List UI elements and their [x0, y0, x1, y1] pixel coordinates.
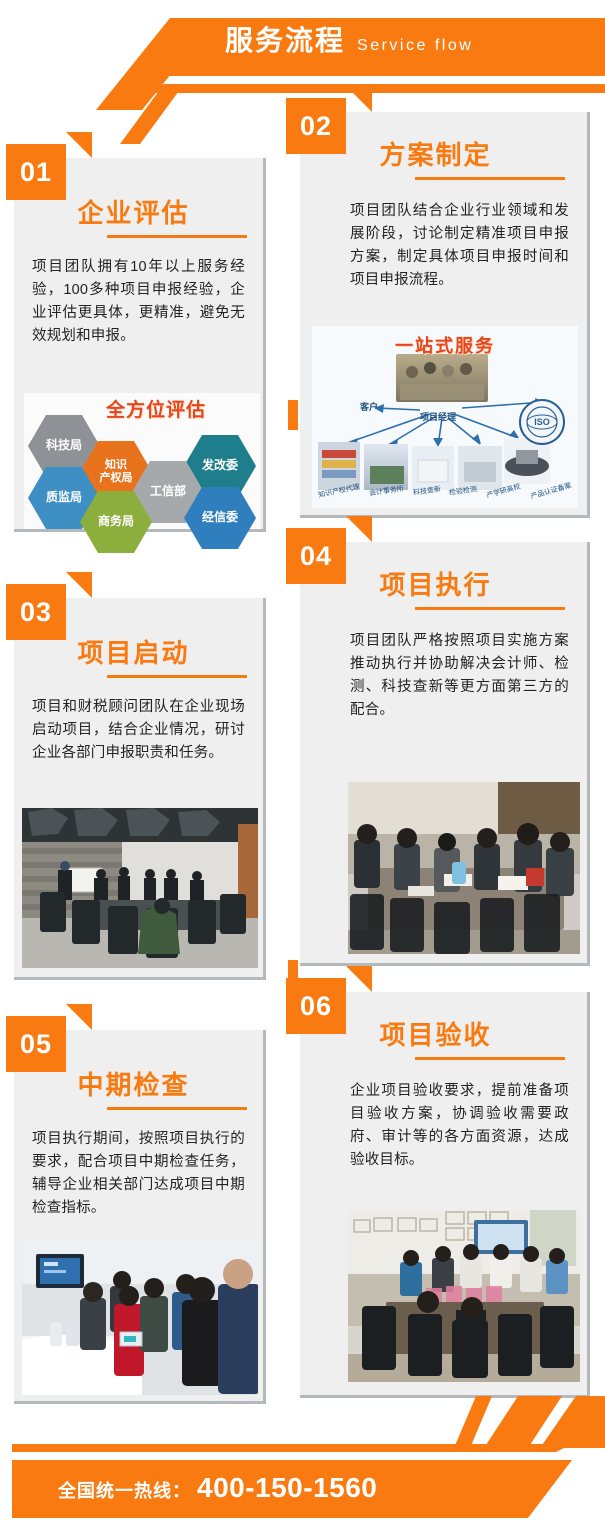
assessment-hexagon-diagram: 全方位评估 科技局 知识 产权局 发改委 质监局 工信部 商务局 经信委 [24, 393, 260, 529]
service-node-manager: 项目经理 [420, 410, 456, 423]
photo-06-svg [348, 1210, 580, 1382]
process-step-card-05[interactable]: 05 中期检查 项目执行期间，按照项目执行的要求，配合项目中期检查任务，辅导企业… [14, 1030, 266, 1404]
step-body-01: 项目团队拥有10年以上服务经验，100多种项目申报经验，企业评估更具体，更精准，… [32, 256, 245, 348]
step-photo-04 [348, 782, 580, 954]
step-title-05: 中期检查 [14, 1072, 263, 1098]
hotline-number[interactable]: 400-150-1560 [197, 1472, 377, 1504]
page-footer: 全国统一热线： 400-150-1560 [0, 1422, 605, 1538]
step-number-badge-03: 03 [6, 584, 66, 640]
photo-05-svg [22, 1240, 258, 1395]
step-body-04: 项目团队严格按照项目实施方案推动执行并协助解决会计师、检测、科技查新等更方面第三… [350, 630, 569, 722]
photo-03-svg [22, 808, 258, 968]
process-step-card-02[interactable]: 02 方案制定 项目团队结合企业行业领域和发展阶段，讨论制定精准项目申报方案，制… [300, 112, 590, 518]
badge-notch-06 [346, 966, 372, 992]
accent-tick-left-col-mid [288, 400, 298, 430]
title-rule-01 [107, 235, 247, 238]
page-title: 服务流程 [225, 27, 345, 55]
title-rule-06 [415, 1057, 565, 1060]
step-number-badge-01: 01 [6, 144, 66, 200]
process-step-card-03[interactable]: 03 项目启动 项目和财税顾问团队在企业现场启动项目，结合企业情况，研讨企业各部… [14, 598, 266, 980]
header-title-group: 服务流程 Service flow [225, 27, 473, 55]
page-header: 服务流程 Service flow [0, 0, 605, 108]
service-diagram-title: 一站式服务 [312, 332, 578, 358]
badge-notch-04 [346, 516, 372, 542]
step-body-03: 项目和财税顾问团队在企业现场启动项目，结合企业情况，研讨企业各部门申报职责和任务… [32, 696, 245, 765]
hexagon-diagram-title: 全方位评估 [106, 395, 252, 422]
process-step-card-06[interactable]: 06 项目验收 企业项目验收要求，提前准备项目验收方案，协调验收需要政府、审计等… [300, 992, 590, 1398]
step-photo-06 [348, 1210, 580, 1382]
process-step-card-01[interactable]: 01 企业评估 项目团队拥有10年以上服务经验，100多种项目申报经验，企业评估… [14, 158, 266, 532]
title-rule-05 [107, 1107, 247, 1110]
service-label-3: 检验检测 [449, 484, 478, 498]
process-step-card-04[interactable]: 04 项目执行 项目团队严格按照项目实施方案推动执行并协助解决会计师、检测、科技… [300, 542, 590, 966]
hotline-label: 全国统一热线： [58, 1477, 191, 1503]
step-title-03: 项目启动 [14, 640, 263, 666]
step-number-badge-04: 04 [286, 528, 346, 584]
step-title-01: 企业评估 [14, 200, 263, 226]
step-number-badge-05: 05 [6, 1016, 66, 1072]
badge-notch-01 [66, 132, 92, 158]
one-stop-service-diagram: ISO 一站式服务 客户 项目经理 知识产权代理 会计事务所 科技查新 检验检测… [312, 326, 578, 508]
page-subtitle: Service flow [357, 38, 473, 54]
footer-thin-bar [12, 1444, 572, 1452]
title-rule-04 [415, 607, 565, 610]
photo-04-svg [348, 782, 580, 954]
header-underline-bar [150, 84, 605, 93]
step-photo-05 [22, 1240, 258, 1395]
badge-notch-03 [66, 572, 92, 598]
title-rule-03 [107, 675, 247, 678]
footer-hotline-group: 全国统一热线： 400-150-1560 [58, 1472, 377, 1504]
step-body-02: 项目团队结合企业行业领域和发展阶段，讨论制定精准项目申报方案，制定具体项目申报时… [350, 200, 569, 292]
title-rule-02 [415, 177, 565, 180]
badge-notch-05 [66, 1004, 92, 1030]
step-photo-03 [22, 808, 258, 968]
service-diagram-labels: 知识产权代理 会计事务所 科技查新 检验检测 产学研高校 产品认证备案 [312, 486, 578, 496]
step-body-06: 企业项目验收要求，提前准备项目验收方案，协调验收需要政府、审计等的各方面资源，达… [350, 1080, 569, 1172]
step-body-05: 项目执行期间，按照项目执行的要求，配合项目中期检查任务，辅导企业相关部门达成项目… [32, 1128, 245, 1220]
service-label-2: 科技查新 [412, 484, 441, 498]
accent-tick-left-col-top [288, 960, 298, 990]
svg-text:ISO: ISO [534, 417, 550, 427]
step-number-badge-02: 02 [286, 98, 346, 154]
service-node-customer: 客户 [360, 400, 378, 413]
